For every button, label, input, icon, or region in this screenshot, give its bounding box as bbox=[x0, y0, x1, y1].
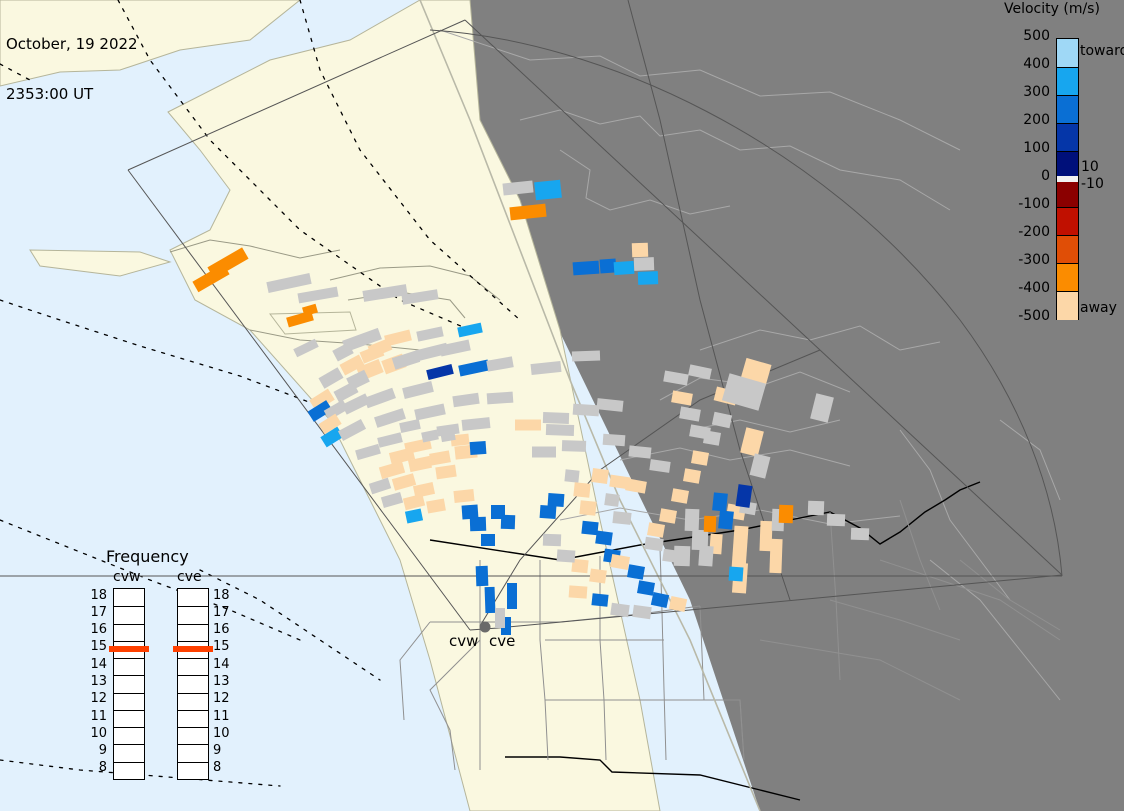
radar-cell bbox=[769, 539, 782, 573]
time-label: 2353:00 UT bbox=[6, 86, 138, 103]
radar-cell bbox=[685, 509, 700, 531]
radar-cell bbox=[581, 521, 598, 536]
radar-cell bbox=[614, 261, 635, 275]
site-label-cvw: cvw bbox=[449, 633, 478, 650]
colorbar-band-6 bbox=[1057, 207, 1078, 236]
frequency-legend-title: Frequency bbox=[106, 548, 189, 566]
radar-cell bbox=[515, 420, 541, 431]
radar-cell bbox=[534, 180, 562, 201]
radar-cell bbox=[671, 488, 689, 504]
colorbar-band-1 bbox=[1057, 67, 1078, 96]
radar-cell bbox=[591, 593, 608, 607]
radar-cell bbox=[495, 608, 505, 628]
velocity-colorbar bbox=[1056, 38, 1079, 320]
radar-cell bbox=[808, 501, 824, 516]
colorbar-title: Velocity (m/s) bbox=[1004, 2, 1100, 18]
radar-cell bbox=[779, 505, 794, 523]
radar-cell bbox=[564, 469, 579, 482]
radar-cell bbox=[481, 534, 495, 546]
radar-cell bbox=[548, 493, 565, 507]
radar-map-view: October, 19 2022 2353:00 UT Velocity (m/… bbox=[0, 0, 1124, 811]
radar-cell bbox=[573, 261, 600, 276]
colorbar-band-8 bbox=[1057, 263, 1078, 292]
radar-cell bbox=[476, 566, 489, 586]
radar-cell bbox=[647, 522, 665, 538]
colorbar-zero-gap bbox=[1057, 176, 1078, 182]
colorbar-band-7 bbox=[1057, 235, 1078, 264]
radar-cell bbox=[501, 515, 515, 529]
colorbar-band-9 bbox=[1057, 291, 1078, 320]
radar-cell bbox=[638, 271, 658, 285]
radar-cell bbox=[557, 549, 576, 562]
radar-cell bbox=[485, 587, 496, 613]
radar-site-marker bbox=[480, 622, 491, 633]
radar-cell bbox=[662, 549, 681, 563]
radar-cell bbox=[659, 508, 677, 524]
radar-cell bbox=[712, 492, 728, 511]
radar-cell bbox=[572, 351, 600, 362]
frequency-bar-label-cvw: cvw bbox=[113, 570, 140, 586]
colorbar-band-3 bbox=[1057, 123, 1078, 152]
colorbar-band-5 bbox=[1057, 179, 1078, 208]
radar-cell bbox=[718, 510, 734, 529]
radar-cell bbox=[569, 585, 588, 598]
colorbar-zero-high-label: 10 bbox=[1081, 160, 1099, 176]
site-label-cve: cve bbox=[489, 633, 515, 650]
radar-cell bbox=[543, 534, 561, 547]
radar-cell bbox=[632, 605, 651, 619]
radar-cell bbox=[827, 514, 845, 527]
radar-cell bbox=[591, 468, 609, 484]
date-label: October, 19 2022 bbox=[6, 36, 138, 53]
radar-cell bbox=[540, 505, 557, 519]
colorbar-toward-label: toward bbox=[1080, 44, 1124, 60]
radar-cell bbox=[487, 392, 514, 405]
radar-cell bbox=[604, 493, 620, 507]
radar-cell bbox=[532, 447, 556, 458]
radar-cell bbox=[692, 530, 709, 551]
radar-cell bbox=[851, 528, 869, 541]
radar-cell bbox=[573, 482, 590, 498]
colorbar-band-2 bbox=[1057, 95, 1078, 124]
radar-cell bbox=[612, 511, 631, 525]
colorbar-away-label: away bbox=[1080, 301, 1117, 317]
map-canvas bbox=[0, 0, 1124, 811]
radar-cell bbox=[704, 516, 717, 532]
radar-cell bbox=[683, 468, 701, 484]
radar-cell bbox=[589, 568, 607, 583]
radar-cell bbox=[644, 537, 663, 551]
colorbar-zero-low-label: -10 bbox=[1081, 177, 1104, 193]
radar-cell bbox=[603, 434, 626, 447]
radar-cell bbox=[628, 445, 651, 458]
radar-cell bbox=[507, 583, 517, 609]
radar-cell bbox=[691, 450, 709, 466]
radar-cell bbox=[627, 564, 645, 580]
radar-cell bbox=[637, 580, 655, 596]
radar-cell bbox=[634, 257, 654, 271]
radar-cell bbox=[595, 530, 613, 545]
radar-cell bbox=[453, 489, 474, 503]
frequency-bar-label-cve: cve bbox=[177, 570, 202, 586]
radar-cell bbox=[470, 441, 487, 455]
radar-cell bbox=[562, 440, 586, 452]
radar-cell bbox=[573, 404, 600, 417]
radar-cell bbox=[632, 243, 648, 258]
radar-cell bbox=[610, 603, 629, 617]
radar-cell bbox=[546, 424, 574, 436]
radar-cell bbox=[729, 567, 744, 582]
radar-cell bbox=[470, 517, 486, 532]
radar-cell bbox=[543, 412, 569, 424]
radar-cell bbox=[579, 500, 596, 516]
colorbar-band-0 bbox=[1057, 39, 1078, 67]
datetime-stamp: October, 19 2022 2353:00 UT bbox=[6, 2, 138, 136]
